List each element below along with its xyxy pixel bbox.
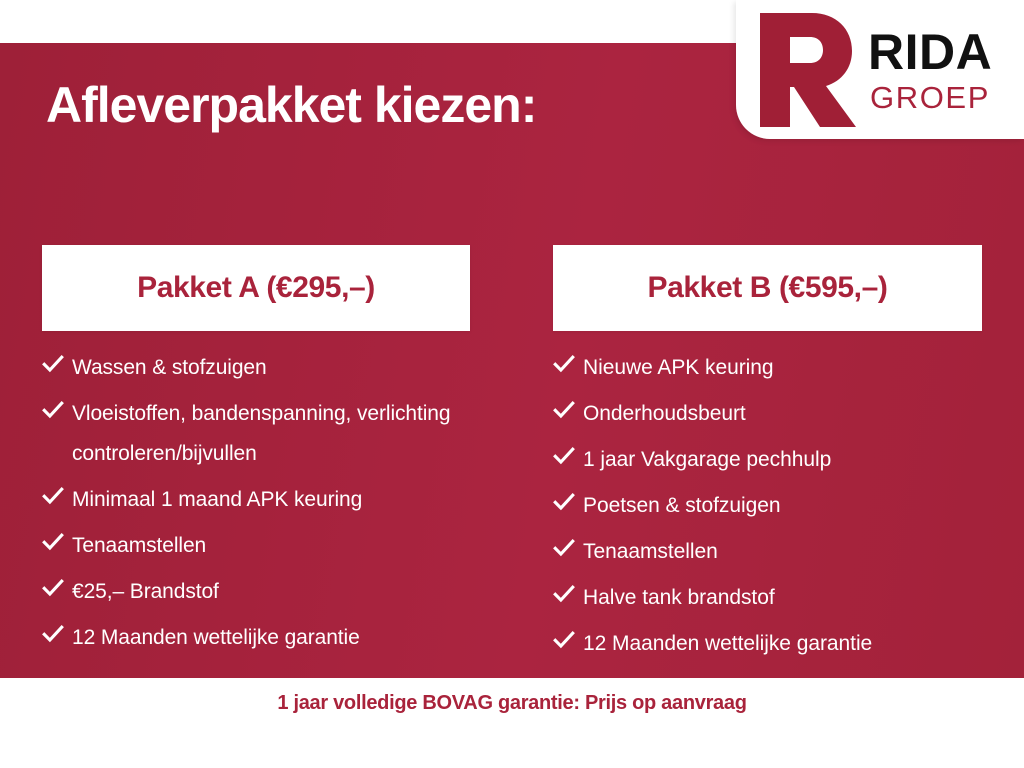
list-item: Wassen & stofzuigen [42, 348, 470, 388]
check-icon [42, 396, 72, 424]
check-icon [553, 488, 583, 516]
package-column-b: Pakket B (€595,–) Nieuwe APK keuring Ond… [553, 245, 982, 670]
check-icon [42, 528, 72, 556]
list-item: 12 Maanden wettelijke garantie [42, 618, 470, 658]
package-b-card[interactable]: Pakket B (€595,–) [553, 245, 982, 331]
check-icon [42, 350, 72, 378]
feature-text: Poetsen & stofzuigen [583, 486, 780, 526]
list-item: Poetsen & stofzuigen [553, 486, 982, 526]
slide-root: Pakket A (€295,–) Wassen & stofzuigen Vl… [0, 0, 1024, 768]
check-icon [553, 396, 583, 424]
feature-text: Minimaal 1 maand APK keuring [72, 480, 362, 520]
check-icon [553, 626, 583, 654]
check-icon [553, 350, 583, 378]
list-item: Tenaamstellen [42, 526, 470, 566]
feature-text: Tenaamstellen [583, 532, 718, 572]
feature-text: 12 Maanden wettelijke garantie [72, 618, 360, 658]
list-item: Tenaamstellen [553, 532, 982, 572]
logo-subbrand-text: GROEP [870, 82, 992, 113]
check-icon [553, 442, 583, 470]
check-icon [42, 574, 72, 602]
feature-text: 1 jaar Vakgarage pechhulp [583, 440, 831, 480]
logo-brand-text: RIDA [868, 27, 992, 77]
package-a-card[interactable]: Pakket A (€295,–) [42, 245, 470, 331]
list-item: €25,– Brandstof [42, 572, 470, 612]
feature-text: 12 Maanden wettelijke garantie [583, 624, 872, 664]
check-icon [42, 620, 72, 648]
check-icon [553, 580, 583, 608]
feature-text: Halve tank brandstof [583, 578, 775, 618]
rida-r-monogram-icon [756, 11, 860, 129]
feature-text: Onderhoudsbeurt [583, 394, 746, 434]
logo-wordmark: RIDA GROEP [868, 27, 992, 113]
package-b-feature-list: Nieuwe APK keuring Onderhoudsbeurt 1 jaa… [553, 348, 982, 664]
feature-text: €25,– Brandstof [72, 572, 219, 612]
package-column-a: Pakket A (€295,–) Wassen & stofzuigen Vl… [42, 245, 470, 664]
list-item: Nieuwe APK keuring [553, 348, 982, 388]
list-item: Minimaal 1 maand APK keuring [42, 480, 470, 520]
feature-text: Wassen & stofzuigen [72, 348, 267, 388]
check-icon [42, 482, 72, 510]
footer-bar: 1 jaar volledige BOVAG garantie: Prijs o… [0, 678, 1024, 768]
feature-text: Vloeistoffen, bandenspanning, verlichtin… [72, 394, 470, 474]
list-item: 12 Maanden wettelijke garantie [553, 624, 982, 664]
footer-note: 1 jaar volledige BOVAG garantie: Prijs o… [0, 692, 1024, 715]
package-a-title: Pakket A (€295,–) [137, 271, 375, 305]
rida-groep-logo[interactable]: RIDA GROEP [736, 0, 1024, 139]
list-item: Halve tank brandstof [553, 578, 982, 618]
list-item: 1 jaar Vakgarage pechhulp [553, 440, 982, 480]
list-item: Vloeistoffen, bandenspanning, verlichtin… [42, 394, 470, 474]
feature-text: Tenaamstellen [72, 526, 206, 566]
page-title: Afleverpakket kiezen: [46, 76, 536, 134]
package-b-title: Pakket B (€595,–) [647, 271, 887, 305]
feature-text: Nieuwe APK keuring [583, 348, 774, 388]
check-icon [553, 534, 583, 562]
list-item: Onderhoudsbeurt [553, 394, 982, 434]
package-a-feature-list: Wassen & stofzuigen Vloeistoffen, banden… [42, 348, 470, 658]
